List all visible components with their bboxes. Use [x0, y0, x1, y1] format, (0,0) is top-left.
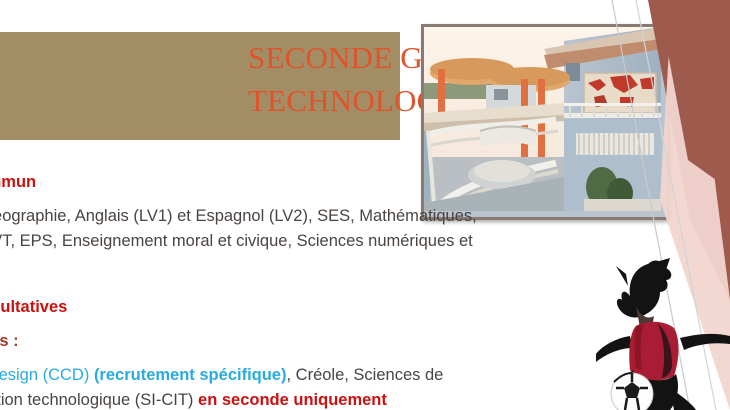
options-line-2: l'ingénieur et innovation technologique …	[0, 388, 610, 410]
option-ccd-rest: , Créole, Sciences de	[286, 366, 443, 384]
options-line-1: Création et culture design (CCD) (recrut…	[0, 363, 610, 388]
common-subjects-line-2: Physique-chimie, SVT, EPS, Enseignement …	[0, 229, 610, 254]
common-subjects-line-1: Français, Histoire-géographie, Anglais (…	[0, 204, 610, 229]
spacer	[0, 195, 610, 204]
heading-enseignements-facultatives: Enseignements facultatives	[0, 295, 610, 320]
spacer	[0, 320, 610, 329]
slide-body-text: Enseignement commun Français, Histoire-g…	[0, 170, 610, 410]
soccer-player-graphic	[596, 258, 730, 410]
presentation-slide: SECONDE GÉNÉRALE ET TECHNOLOGIQUE	[0, 0, 730, 410]
spacer	[0, 279, 610, 295]
spacer	[0, 354, 610, 363]
common-subjects-line-3: technologie (SNT)	[0, 254, 610, 279]
option-sicit-label: l'ingénieur et innovation technologique …	[0, 391, 198, 409]
heading-options-disponibles: Options disponibles :	[0, 329, 610, 354]
option-ccd-note: (recrutement spécifique)	[94, 366, 287, 384]
heading-enseignement-commun: Enseignement commun	[0, 170, 610, 195]
option-ccd-label: Création et culture design (CCD)	[0, 366, 94, 384]
option-sicit-note: en seconde uniquement	[198, 391, 387, 409]
